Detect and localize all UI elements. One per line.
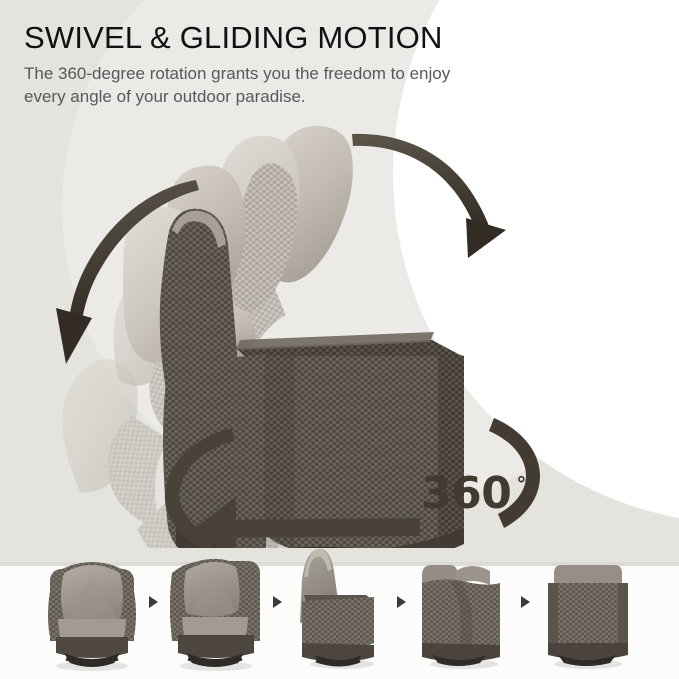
filmstrip-separator-2 [268,533,288,679]
chevron-right-icon [397,596,406,608]
filmstrip-frame-three-quarter [164,533,268,679]
filmstrip-separator-1 [144,533,164,679]
chevron-right-icon [273,596,282,608]
chevron-right-icon [521,596,530,608]
main-illustration [0,118,679,548]
filmstrip-frame-front [40,533,144,679]
rotation-degrees-label: 360 ° [421,472,526,516]
filmstrip-separator-4 [516,533,536,679]
page-subtitle: The 360-degree rotation grants you the f… [24,62,624,109]
page-title: SWIVEL & GLIDING MOTION [24,22,644,55]
chair-side-panel-shade [264,356,294,548]
rotate-arrow-top-right [352,134,506,258]
header: SWIVEL & GLIDING MOTION The 360-degree r… [24,22,644,109]
subtitle-line-2: every angle of your outdoor paradise. [24,85,624,108]
filmstrip-frame-side [288,533,392,679]
chevron-right-icon [149,596,158,608]
subtitle-line-1: The 360-degree rotation grants you the f… [24,62,624,85]
filmstrip-frame-rear [536,533,640,679]
rotation-filmstrip [0,528,679,679]
filmstrip-frame-rear-quarter [412,533,516,679]
degrees-value: 360 [421,472,511,516]
filmstrip-separator-3 [392,533,412,679]
degree-symbol: ° [516,474,526,494]
infographic-panel: SWIVEL & GLIDING MOTION The 360-degree r… [0,0,679,679]
